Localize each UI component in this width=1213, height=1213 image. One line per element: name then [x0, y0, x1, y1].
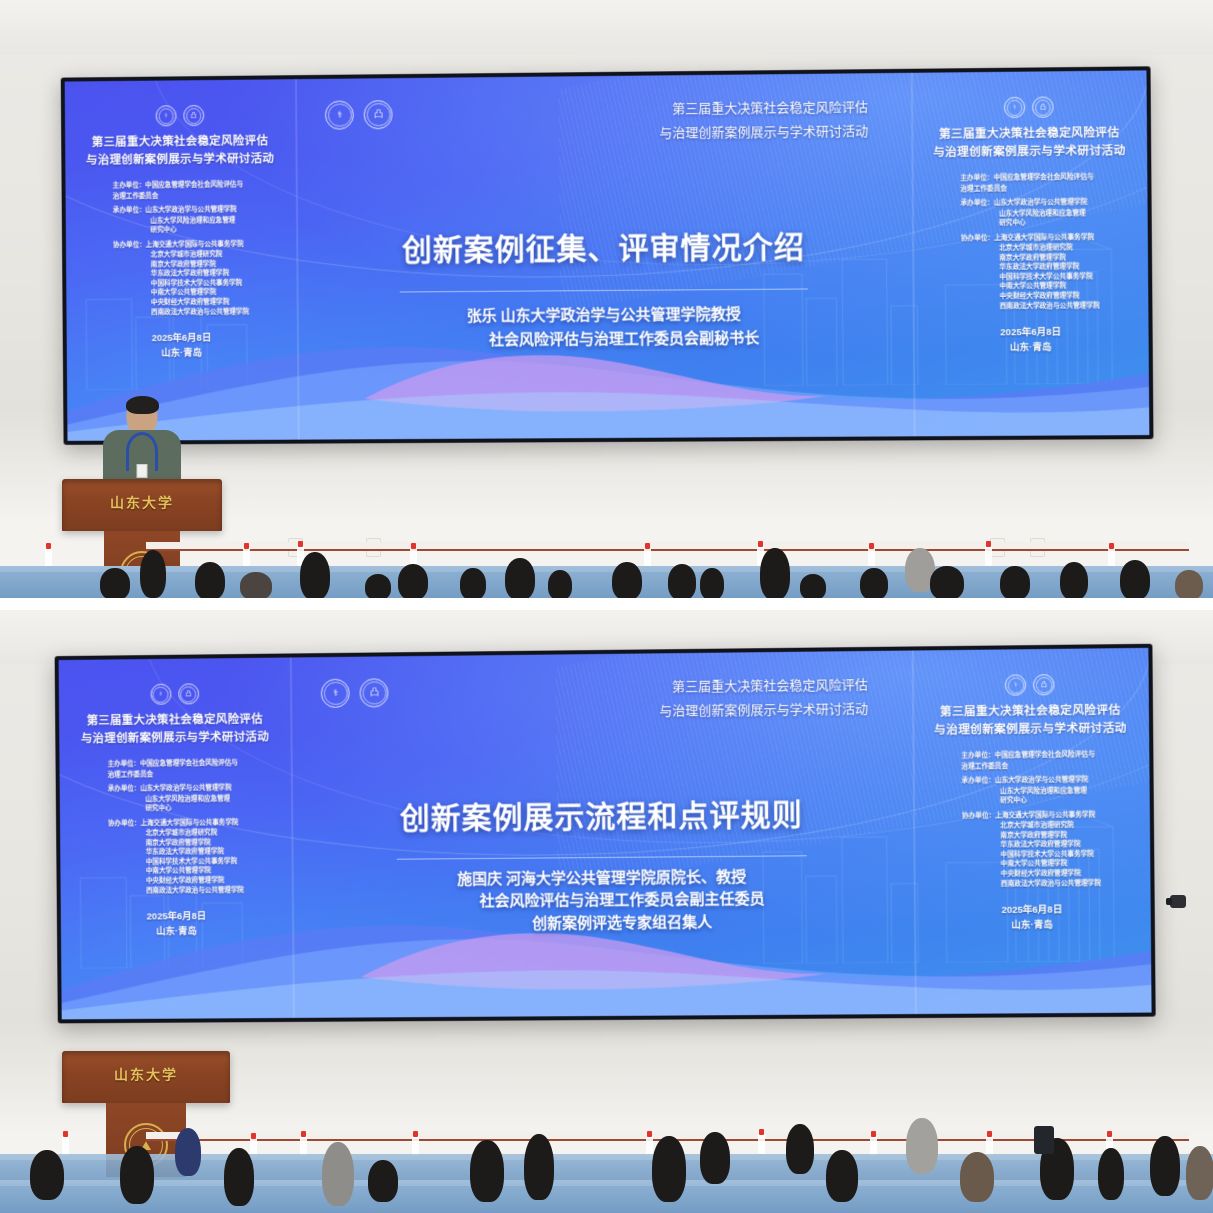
- screen-surface: ⚕ 凸 第三届重大决策社会稳定风险评估 与治理创新案例展示与学术研讨活动 主办单…: [59, 648, 1152, 1020]
- audience-head: [860, 568, 888, 598]
- event-location: 山东·青岛: [65, 923, 289, 940]
- coorganizer-value: 西南政法大学政治与公共管理学院: [114, 307, 249, 317]
- audience-head: [322, 1142, 354, 1206]
- event-date: 2025年6月8日: [917, 324, 1144, 341]
- organizer-label: 承办单位：: [962, 776, 995, 786]
- audience-head: [800, 574, 826, 598]
- china-emergency-management-society-emblem: ⚕: [150, 684, 171, 705]
- emblem-group: ⚕ 凸: [916, 673, 1145, 697]
- coorganizer-value: 中央财经大学政府管理学院: [114, 298, 249, 308]
- host-value: 中国应急管理学会社会风险评估与: [140, 760, 238, 768]
- event-date: 2025年6月8日: [71, 330, 293, 347]
- audience-head: [668, 564, 696, 598]
- audience-head: [906, 1118, 938, 1174]
- audience-head: [30, 1150, 64, 1200]
- led-display-screen: ⚕ 凸 第三届重大决策社会稳定风险评估 与治理创新案例展示与学术研讨活动 主办单…: [61, 66, 1154, 445]
- event-date: 2025年6月8日: [65, 908, 289, 925]
- speaker-line-2: 社会风险评估与治理工作委员会副秘书长: [352, 327, 858, 355]
- event-title-line1: 第三届重大决策社会稳定风险评估: [69, 133, 291, 153]
- organizer-value: 山东大学政治学与公共管理学院: [995, 776, 1088, 784]
- organizer-value: 山东大学政治学与公共管理学院: [145, 206, 236, 214]
- conference-photo-top: ⚕ 凸 第三届重大决策社会稳定风险评估 与治理创新案例展示与学术研讨活动 主办单…: [0, 0, 1213, 598]
- event-location: 山东·青岛: [918, 917, 1147, 934]
- audience-head: [365, 574, 391, 598]
- organizer-block: 主办单位： 中国应急管理学会社会风险评估与 治理工作委员会 承办单位： 山东大学…: [960, 173, 1100, 312]
- speaker-hair: [126, 396, 159, 414]
- coorganizer-value: 西南政法大学政治与公共管理学院: [961, 301, 1100, 312]
- audience-head: [612, 562, 642, 598]
- water-bottle: [985, 546, 992, 566]
- audience-head: [1175, 570, 1203, 598]
- slide-header-line1: 第三届重大决策社会稳定风险评估: [659, 673, 868, 699]
- shandong-university-emblem: 凸: [1032, 97, 1053, 118]
- slide-header-line2: 与治理创新案例展示与学术研讨活动: [659, 119, 868, 145]
- phone-icon: [1034, 1126, 1054, 1154]
- audience-head: [398, 564, 428, 598]
- audience-head: [470, 1140, 504, 1202]
- audience-head: [700, 568, 724, 598]
- audience-head: [1186, 1146, 1213, 1200]
- event-location: 山东·青岛: [71, 345, 293, 362]
- audience-head: [524, 1134, 554, 1200]
- two-photo-composite: ⚕ 凸 第三届重大决策社会稳定风险评估 与治理创新案例展示与学术研讨活动 主办单…: [0, 0, 1213, 1213]
- audience-head: [140, 550, 166, 598]
- slide-panel-left: ⚕ 凸 第三届重大决策社会稳定风险评估 与治理创新案例展示与学术研讨活动 主办单…: [65, 79, 298, 441]
- slide-header-line1: 第三届重大决策社会稳定风险评估: [659, 95, 868, 121]
- host-label: 主办单位：: [960, 173, 993, 183]
- screen-surface: ⚕ 凸 第三届重大决策社会稳定风险评估 与治理创新案例展示与学术研讨活动 主办单…: [65, 70, 1150, 441]
- coorganizer-label: 协办单位：: [961, 234, 994, 244]
- organizer-value: 山东大学风险治理和应急管理: [962, 786, 1101, 797]
- water-bottle: [646, 1136, 653, 1156]
- china-emergency-management-society-emblem: ⚕: [321, 678, 350, 707]
- audience-area: [0, 1088, 1213, 1213]
- coorganizer-value: 上海交通大学国际与公共事务学院: [141, 819, 239, 827]
- wall-camera-icon: [1170, 895, 1186, 908]
- coorganizer-value: 西南政法大学政治与公共管理学院: [962, 878, 1101, 889]
- china-emergency-management-society-emblem: ⚕: [1004, 97, 1025, 118]
- shandong-university-emblem: 凸: [178, 684, 199, 705]
- water-bottle: [868, 548, 875, 568]
- slide-main-title: 创新案例征集、评审情况介绍: [296, 222, 913, 271]
- audience-head: [826, 1150, 858, 1202]
- title-divider: [400, 288, 807, 292]
- emblem-group: ⚕ 凸: [915, 96, 1142, 119]
- event-location: 山东·青岛: [917, 339, 1144, 356]
- slide-panel-left: ⚕ 凸 第三届重大决策社会稳定风险评估 与治理创新案例展示与学术研讨活动 主办单…: [59, 657, 294, 1019]
- coorganizer-value: 中国科学技术大学公共事务学院: [113, 279, 248, 290]
- audience-head: [120, 1146, 154, 1204]
- coorganizer-value: 中国科学技术大学公共事务学院: [108, 857, 243, 868]
- china-emergency-management-society-emblem: ⚕: [155, 106, 176, 127]
- water-bottle: [644, 548, 651, 568]
- water-bottle: [62, 1136, 69, 1156]
- coorganizer-value: 中央财经大学政府管理学院: [961, 291, 1100, 302]
- audience-head: [1000, 566, 1030, 598]
- audience-head: [786, 1124, 814, 1174]
- coorganizer-value: 西南政法大学政治与公共管理学院: [109, 885, 244, 896]
- coorganizer-label: 协办单位：: [113, 240, 146, 250]
- water-bottle: [1108, 548, 1115, 568]
- water-bottle: [412, 1136, 419, 1156]
- coorganizer-value: 中央财经大学政府管理学院: [962, 869, 1101, 880]
- audience-head: [460, 568, 486, 598]
- organizer-value: 山东大学政治学与公共管理学院: [140, 785, 231, 793]
- audience-head: [1060, 562, 1088, 598]
- coorganizer-label: 协办单位：: [962, 811, 995, 821]
- conference-photo-bottom: ⚕ 凸 第三届重大决策社会稳定风险评估 与治理创新案例展示与学术研讨活动 主办单…: [0, 610, 1213, 1213]
- host-label: 主办单位：: [107, 759, 140, 769]
- host-value: 中国应急管理学会社会风险评估与: [145, 181, 243, 189]
- slide-header-line2: 与治理创新案例展示与学术研讨活动: [659, 697, 868, 723]
- title-divider: [397, 855, 807, 859]
- audience-head: [100, 568, 130, 598]
- seat-row: [0, 566, 1213, 598]
- event-date: 2025年6月8日: [918, 901, 1147, 918]
- slide-panel-center: ⚕ 凸 第三届重大决策社会稳定风险评估 与治理创新案例展示与学术研讨活动 创新案…: [290, 651, 914, 1018]
- water-bottle: [870, 1136, 877, 1156]
- coorganizer-value: 中国科学技术大学公共事务学院: [962, 850, 1101, 861]
- podium-front-panel: 山东大学: [62, 479, 222, 531]
- organizer-label: 承办单位：: [113, 206, 146, 216]
- china-emergency-management-society-emblem: ⚕: [1005, 675, 1026, 696]
- audience-head: [240, 572, 272, 598]
- audience-head: [930, 566, 964, 598]
- emblem-group: ⚕ 凸: [321, 678, 389, 708]
- podium-brand-text: 山东大学: [62, 1065, 230, 1085]
- event-title-line1: 第三届重大决策社会稳定风险评估: [916, 703, 1145, 723]
- organizer-value: 山东大学风险治理和应急管理: [108, 794, 243, 805]
- slide-main-title: 创新案例展示流程和点评规则: [291, 789, 913, 839]
- led-display-screen: ⚕ 凸 第三届重大决策社会稳定风险评估 与治理创新案例展示与学术研讨活动 主办单…: [55, 644, 1156, 1024]
- audience-head: [548, 570, 572, 598]
- coorganizer-label: 协办单位：: [108, 819, 141, 829]
- shandong-university-emblem: 凸: [360, 678, 389, 707]
- host-label: 主办单位：: [961, 751, 994, 761]
- organizer-block: 主办单位： 中国应急管理学会社会风险评估与 治理工作委员会 承办单位： 山东大学…: [113, 180, 249, 317]
- seat-row: [0, 1180, 1213, 1213]
- audience-head: [195, 562, 225, 598]
- coorganizer-value: 上海交通大学国际与公共事务学院: [994, 234, 1094, 242]
- organizer-block: 主办单位： 中国应急管理学会社会风险评估与 治理工作委员会 承办单位： 山东大学…: [107, 758, 243, 896]
- slide-panel-right: ⚕ 凸 第三届重大决策社会稳定风险评估 与治理创新案例展示与学术研讨活动 主办单…: [911, 70, 1149, 436]
- event-title-line2: 与治理创新案例展示与学术研讨活动: [63, 729, 287, 749]
- china-emergency-management-society-emblem: ⚕: [325, 100, 354, 129]
- organizer-value: 山东大学风险治理和应急管理: [961, 208, 1100, 219]
- speaker-line-3: 创新案例评选专家组召集人: [348, 911, 858, 937]
- speaker-line-1: 张乐 山东大学政治学与公共管理学院教授: [351, 302, 857, 330]
- emblem-group: ⚕ 凸: [69, 104, 291, 127]
- audience-head: [1150, 1136, 1180, 1196]
- event-title-line2: 与治理创新案例展示与学术研讨活动: [916, 721, 1145, 741]
- coorganizer-value: 上海交通大学国际与公共事务学院: [146, 241, 244, 249]
- water-bottle: [243, 548, 250, 568]
- host-value: 中国应急管理学会社会风险评估与: [995, 751, 1095, 759]
- speaker-head: [127, 398, 158, 434]
- event-title-line2: 与治理创新案例展示与学术研讨活动: [916, 143, 1143, 163]
- host-label: 主办单位：: [113, 181, 146, 191]
- organizer-label: 承办单位：: [960, 199, 993, 209]
- audience-head: [700, 1132, 730, 1184]
- ceiling-band: [0, 0, 1213, 54]
- audience-head: [760, 548, 790, 598]
- event-title-line2: 与治理创新案例展示与学术研讨活动: [69, 151, 291, 171]
- organizer-value: 山东大学政治学与公共管理学院: [994, 199, 1087, 207]
- organizer-value: 山东大学风险治理和应急管理: [113, 216, 248, 227]
- water-bottle: [986, 1136, 993, 1156]
- coorganizer-value: 中央财经大学政府管理学院: [109, 876, 244, 887]
- organizer-label: 承办单位：: [108, 784, 141, 794]
- water-bottle: [45, 548, 52, 568]
- podium-brand-text: 山东大学: [62, 493, 222, 513]
- shandong-university-emblem: 凸: [1033, 674, 1054, 695]
- slide-panel-center: ⚕ 凸 第三届重大决策社会稳定风险评估 与治理创新案例展示与学术研讨活动 创新案…: [295, 73, 914, 440]
- emblem-group: ⚕ 凸: [63, 683, 287, 706]
- audience-head: [1120, 560, 1150, 598]
- host-value: 中国应急管理学会社会风险评估与: [994, 174, 1094, 182]
- event-title-line1: 第三届重大决策社会稳定风险评估: [916, 125, 1143, 145]
- organizer-block: 主办单位： 中国应急管理学会社会风险评估与 治理工作委员会 承办单位： 山东大学…: [961, 750, 1101, 889]
- audience-head: [960, 1152, 994, 1202]
- shandong-university-emblem: 凸: [183, 105, 204, 126]
- audience-head: [652, 1136, 686, 1202]
- emblem-group: ⚕ 凸: [325, 100, 393, 130]
- water-bottle: [758, 1134, 765, 1154]
- audience-head: [175, 1128, 201, 1176]
- coorganizer-value: 上海交通大学国际与公共事务学院: [995, 811, 1095, 819]
- audience-head: [505, 558, 535, 598]
- audience-head: [368, 1160, 398, 1202]
- shandong-university-emblem: 凸: [364, 100, 393, 129]
- audience-head: [224, 1148, 254, 1206]
- event-title-line1: 第三届重大决策社会稳定风险评估: [63, 712, 287, 732]
- audience-area: [0, 540, 1213, 598]
- coorganizer-value: 中国科学技术大学公共事务学院: [961, 272, 1100, 283]
- slide-panel-right: ⚕ 凸 第三届重大决策社会稳定风险评估 与治理创新案例展示与学术研讨活动 主办单…: [911, 648, 1151, 1014]
- water-bottle: [300, 1136, 307, 1156]
- audience-head: [1098, 1148, 1124, 1200]
- audience-head: [300, 552, 330, 598]
